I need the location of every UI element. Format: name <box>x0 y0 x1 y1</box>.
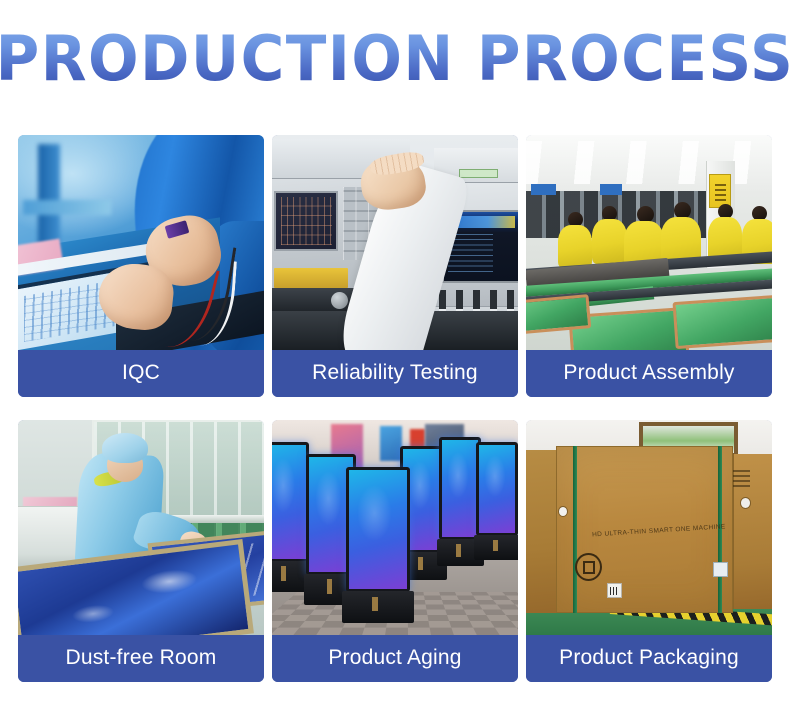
process-card-product-aging[interactable]: Product Aging <box>272 420 518 682</box>
process-card-grid: IQC <box>18 135 772 682</box>
caption-product-assembly: Product Assembly <box>526 350 772 397</box>
process-card-reliability-testing[interactable]: Reliability Testing <box>272 135 518 397</box>
ag-kiosk-4 <box>439 437 481 540</box>
rt-yellow-strip <box>274 268 348 287</box>
caption-product-packaging: Product Packaging <box>526 635 772 682</box>
caption-dust-free-room: Dust-free Room <box>18 635 264 682</box>
rt-button-row-upper <box>439 290 518 309</box>
pa-worker-body-1 <box>558 225 592 268</box>
photo-product-assembly <box>526 135 772 350</box>
photo-product-packaging: HD ULTRA-THIN SMART ONE MACHINE <box>526 420 772 635</box>
process-card-dust-free-room[interactable]: Dust-free Room <box>18 420 264 682</box>
pa-green-panel-right <box>672 294 772 349</box>
pa-ceiling-lights <box>526 141 772 184</box>
pk-print-marks <box>733 467 750 486</box>
pk-barcode-label <box>607 583 622 598</box>
ag-kiosk-5 <box>476 442 518 537</box>
ag-kiosk-front <box>346 467 410 592</box>
caption-reliability-testing: Reliability Testing <box>272 350 518 397</box>
pk-side-label <box>713 562 728 577</box>
photo-product-aging <box>272 420 518 635</box>
pk-strap-left <box>573 446 577 614</box>
iqc-shelf-bar <box>23 200 112 215</box>
pk-handle-hole-left <box>558 506 568 517</box>
pa-wall-sign-mid <box>600 184 622 195</box>
page-title: PRODUCTION PROCESS <box>0 28 790 90</box>
production-process-page: PRODUCTION PROCESS <box>0 0 790 715</box>
photo-iqc <box>18 135 264 350</box>
ag-kiosk-1 <box>272 442 309 562</box>
caption-iqc: IQC <box>18 350 264 397</box>
ag-kiosk-base-front <box>342 591 414 623</box>
pa-wall-sign-left <box>531 184 556 195</box>
process-card-product-assembly[interactable]: Product Assembly <box>526 135 772 397</box>
ag-kiosk-base-5 <box>474 535 518 560</box>
page-title-container: PRODUCTION PROCESS <box>0 0 790 118</box>
photo-reliability-testing <box>272 135 518 350</box>
ag-kiosk-screen-front <box>346 467 410 592</box>
df-worker-cap <box>102 433 149 463</box>
ag-kiosk-screen-4 <box>439 437 481 540</box>
ag-kiosk-screen-5 <box>476 442 518 537</box>
rt-calibration-label <box>459 169 498 178</box>
caption-product-aging: Product Aging <box>272 635 518 682</box>
photo-dust-free-room <box>18 420 264 635</box>
pa-worker-body-2 <box>592 219 626 264</box>
iqc-rack-icon <box>38 144 60 252</box>
process-card-product-packaging[interactable]: HD ULTRA-THIN SMART ONE MACHINE Product … <box>526 420 772 682</box>
process-card-iqc[interactable]: IQC <box>18 135 264 397</box>
pa-safety-sign-icon <box>709 174 731 208</box>
rt-analyzer-screen <box>274 191 338 251</box>
ag-kiosk-screen-1 <box>272 442 309 562</box>
